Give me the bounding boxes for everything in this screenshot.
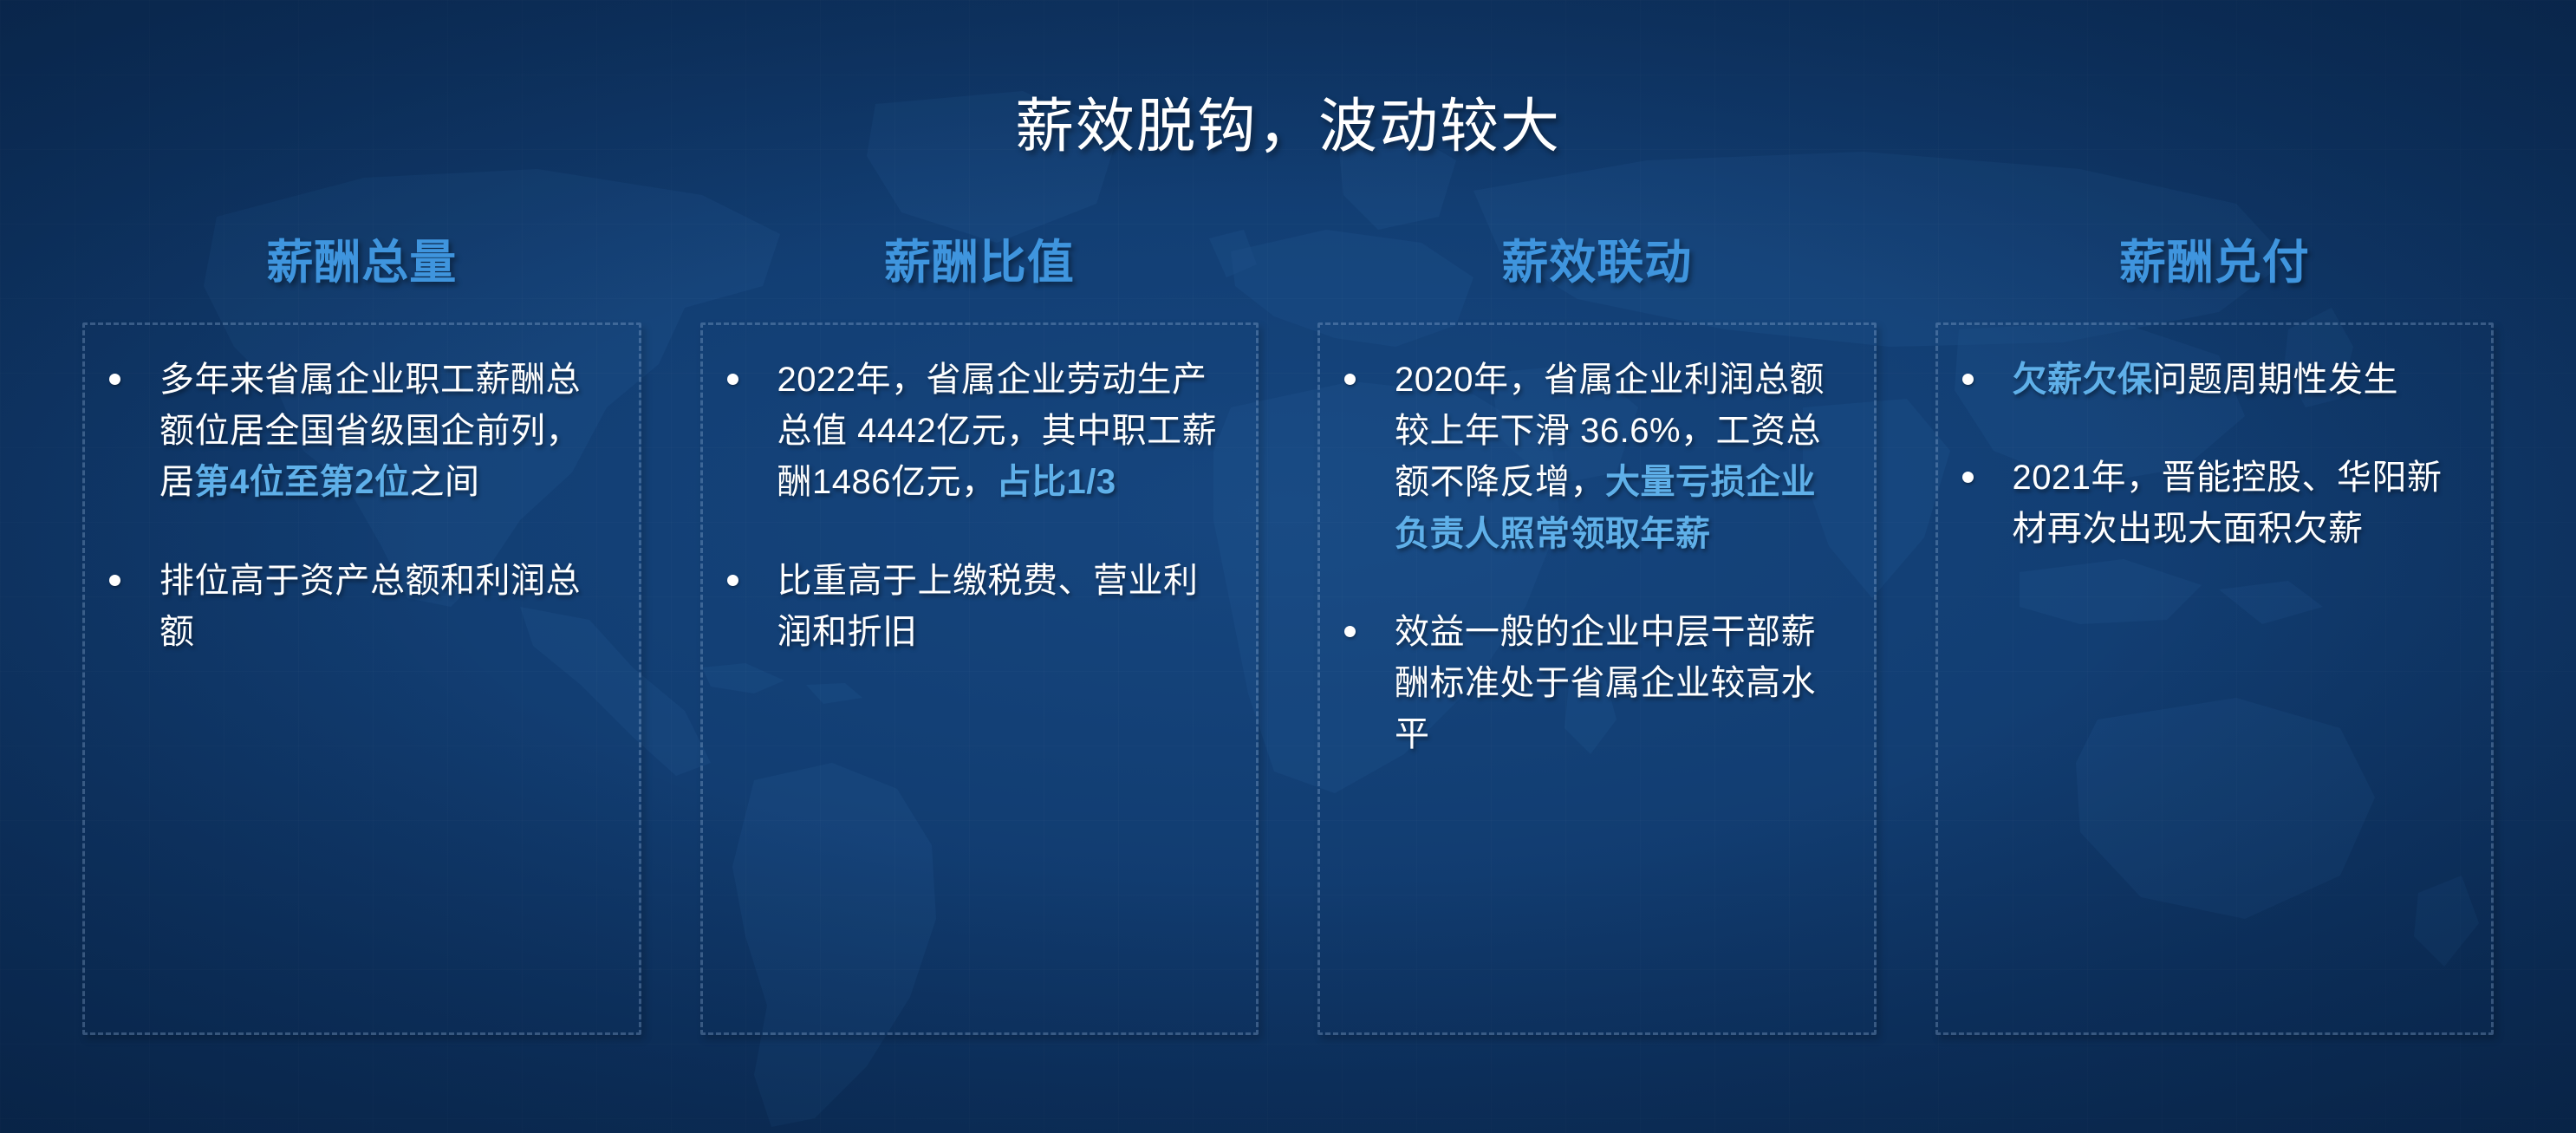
column-box-2: 2022年，省属企业劳动生产总值 4442亿元，其中职工薪酬1486亿元，占比1… [700, 322, 1259, 1035]
list-item: 多年来省属企业职工薪酬总额位居全国省级国企前列，居第4位至第2位之间 [102, 355, 613, 509]
bullet-list-2: 2022年，省属企业劳动生产总值 4442亿元，其中职工薪酬1486亿元，占比1… [720, 355, 1231, 658]
bullet-list-1: 多年来省属企业职工薪酬总额位居全国省级国企前列，居第4位至第2位之间 排位高于资… [102, 355, 613, 658]
column-salary-performance-link: 薪效联动 2020年，省属企业利润总额较上年下滑 36.6%，工资总额不降反增，… [1317, 212, 1877, 1035]
bullet-text-tail: 之间 [410, 463, 480, 501]
bullet-dot-icon [727, 575, 738, 586]
bullet-text: 2021年，晋能控股、华阳新材再次出现大面积欠薪 [2013, 459, 2443, 548]
column-salary-payment: 薪酬兑付 欠薪欠保问题周期性发生 2021年，晋能控股、华阳新材再次出现大面积欠… [1935, 212, 2495, 1035]
bullet-dot-icon [109, 575, 120, 586]
bullet-highlight: 欠薪欠保 [2013, 361, 2153, 399]
list-item: 效益一般的企业中层干部薪酬标准处于省属企业较高水平 [1337, 607, 1848, 761]
presentation-slide: 薪效脱钩，波动较大 薪酬总量 多年来省属企业职工薪酬总额位居全国省级国企前列，居… [0, 0, 2576, 1133]
column-header-1: 薪酬总量 [82, 212, 641, 322]
column-box-3: 2020年，省属企业利润总额较上年下滑 36.6%，工资总额不降反增，大量亏损企… [1317, 322, 1877, 1035]
bullet-dot-icon [1344, 626, 1356, 637]
bullet-dot-icon [727, 374, 738, 385]
column-box-4: 欠薪欠保问题周期性发生 2021年，晋能控股、华阳新材再次出现大面积欠薪 [1935, 322, 2495, 1035]
bullet-dot-icon [1962, 374, 1974, 385]
bullet-text: 比重高于上缴税费、营业利润和折旧 [777, 562, 1199, 651]
list-item: 2020年，省属企业利润总额较上年下滑 36.6%，工资总额不降反增，大量亏损企… [1337, 355, 1848, 560]
bullet-dot-icon [109, 374, 120, 385]
bullet-list-4: 欠薪欠保问题周期性发生 2021年，晋能控股、华阳新材再次出现大面积欠薪 [1955, 355, 2466, 556]
bullet-text: 问题周期性发生 [2153, 361, 2399, 399]
column-header-2: 薪酬比值 [700, 212, 1259, 322]
column-header-3: 薪效联动 [1317, 212, 1877, 322]
list-item: 欠薪欠保问题周期性发生 [1955, 355, 2466, 406]
list-item: 排位高于资产总额和利润总额 [102, 556, 613, 658]
bullet-text: 排位高于资产总额和利润总额 [159, 562, 581, 651]
bullet-highlight: 第4位至第2位 [195, 463, 410, 501]
column-header-4: 薪酬兑付 [1935, 212, 2495, 322]
page-title: 薪效脱钩，波动较大 [0, 78, 2576, 164]
column-salary-ratio: 薪酬比值 2022年，省属企业劳动生产总值 4442亿元，其中职工薪酬1486亿… [700, 212, 1259, 1035]
bullet-text: 效益一般的企业中层干部薪酬标准处于省属企业较高水平 [1395, 613, 1816, 753]
column-box-1: 多年来省属企业职工薪酬总额位居全国省级国企前列，居第4位至第2位之间 排位高于资… [82, 322, 641, 1035]
bullet-dot-icon [1962, 472, 1974, 483]
list-item: 2022年，省属企业劳动生产总值 4442亿元，其中职工薪酬1486亿元，占比1… [720, 355, 1231, 509]
list-item: 2021年，晋能控股、华阳新材再次出现大面积欠薪 [1955, 453, 2466, 555]
bullet-list-3: 2020年，省属企业利润总额较上年下滑 36.6%，工资总额不降反增，大量亏损企… [1337, 355, 1848, 760]
bullet-dot-icon [1344, 374, 1356, 385]
columns-container: 薪酬总量 多年来省属企业职工薪酬总额位居全国省级国企前列，居第4位至第2位之间 … [82, 212, 2494, 1035]
bullet-highlight: 占比1/3 [996, 463, 1116, 501]
column-salary-total: 薪酬总量 多年来省属企业职工薪酬总额位居全国省级国企前列，居第4位至第2位之间 … [82, 212, 641, 1035]
list-item: 比重高于上缴税费、营业利润和折旧 [720, 556, 1231, 658]
